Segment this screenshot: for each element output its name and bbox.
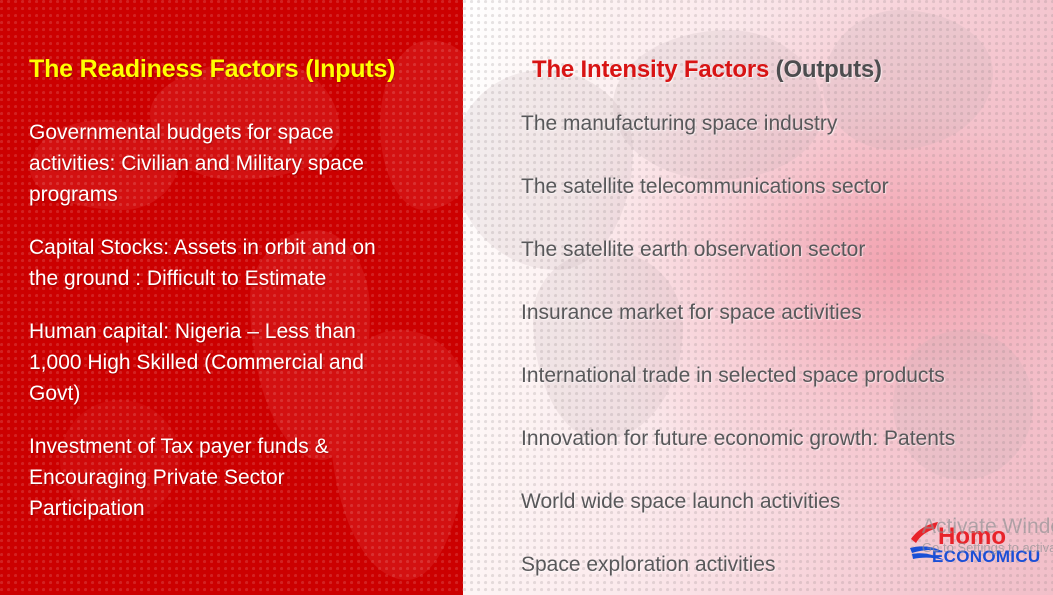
readiness-factors-list: Governmental budgets for space activitie… [29, 117, 401, 546]
list-item: International trade in selected space pr… [521, 362, 1041, 425]
readiness-factors-content: The Readiness Factors (Inputs) Governmen… [0, 0, 463, 595]
intensity-factors-title-red: The Intensity Factors [532, 56, 769, 83]
logo-red-swoosh [911, 522, 938, 543]
list-item: Governmental budgets for space activitie… [29, 117, 401, 210]
logo-wordmark-bottom: ECONOMICUS [932, 547, 1040, 566]
list-item: Insurance market for space activities [521, 299, 1041, 362]
list-item: The satellite earth observation sector [521, 236, 1041, 299]
list-item: The satellite telecommunications sector [521, 173, 1041, 236]
list-item: Human capital: Nigeria – Less than 1,000… [29, 316, 401, 409]
homo-economicus-logo: Homo ECONOMICUS [908, 518, 1040, 568]
intensity-factors-panel: The Intensity Factors (Outputs) The manu… [463, 0, 1053, 595]
list-item: Investment of Tax payer funds & Encourag… [29, 431, 401, 524]
list-item: The manufacturing space industry [521, 110, 1041, 173]
intensity-factors-title: The Intensity Factors (Outputs) [532, 56, 882, 84]
list-item: Innovation for future economic growth: P… [521, 425, 1041, 488]
presentation-slide: The Readiness Factors (Inputs) Governmen… [0, 0, 1053, 595]
logo-wordmark-top: Homo [938, 523, 1006, 550]
intensity-factors-title-gray: (Outputs) [769, 56, 882, 83]
list-item: Capital Stocks: Assets in orbit and on t… [29, 232, 401, 294]
readiness-factors-title: The Readiness Factors (Inputs) [29, 55, 395, 84]
readiness-factors-panel: The Readiness Factors (Inputs) Governmen… [0, 0, 463, 595]
